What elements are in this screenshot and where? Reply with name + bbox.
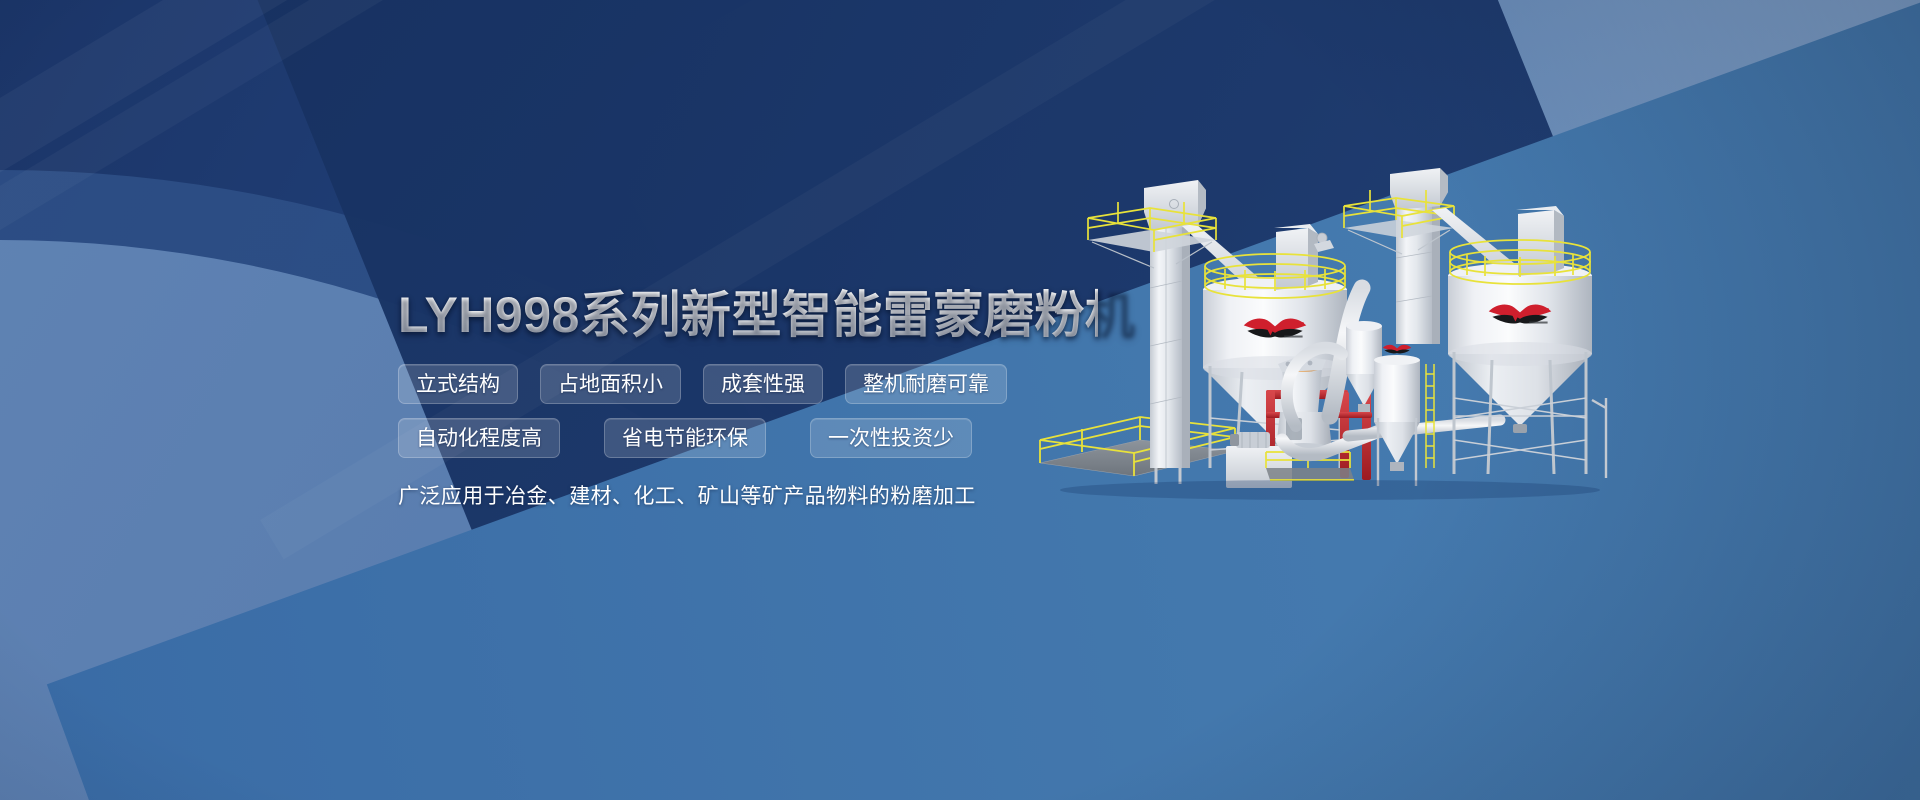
feature-tag-complete-set[interactable]: 成套性强: [703, 364, 823, 404]
banner-copy: LYH998系列新型智能雷蒙磨粉机 立式结构 占地面积小 成套性强 整机耐磨可靠…: [398, 288, 1098, 510]
feature-tag-wear-resistant[interactable]: 整机耐磨可靠: [845, 364, 1007, 404]
feature-tag-vertical-structure[interactable]: 立式结构: [398, 364, 518, 404]
far-right-post: [1592, 398, 1606, 478]
right-silo-inlet: [1518, 210, 1554, 276]
hero-banner: LYH998系列新型智能雷蒙磨粉机 立式结构 占地面积小 成套性强 整机耐磨可靠…: [0, 0, 1920, 800]
right-storage-silo: [1448, 206, 1592, 474]
feature-tag-energy-saving[interactable]: 省电节能环保: [604, 418, 766, 458]
feature-tag-row-1: 立式结构 占地面积小 成套性强 整机耐磨可靠: [398, 364, 1098, 404]
page-subtitle: 广泛应用于冶金、建材、化工、矿山等矿产品物料的粉磨加工: [398, 480, 1098, 510]
silo-inlet-duct: [1276, 228, 1308, 290]
feature-tag-low-investment[interactable]: 一次性投资少: [810, 418, 972, 458]
lyh-logo-on-collector: [1383, 345, 1412, 354]
feature-tag-small-footprint[interactable]: 占地面积小: [540, 364, 681, 404]
ground-shadow: [1060, 480, 1600, 500]
feature-tag-high-automation[interactable]: 自动化程度高: [398, 418, 560, 458]
tower-legs: [1156, 468, 1180, 484]
feature-tag-row-2: 自动化程度高 省电节能环保 一次性投资少: [398, 418, 1098, 458]
page-title: LYH998系列新型智能雷蒙磨粉机: [398, 288, 1098, 342]
dust-collector-column: [1374, 345, 1434, 486]
collector-ladder: [1426, 364, 1434, 468]
